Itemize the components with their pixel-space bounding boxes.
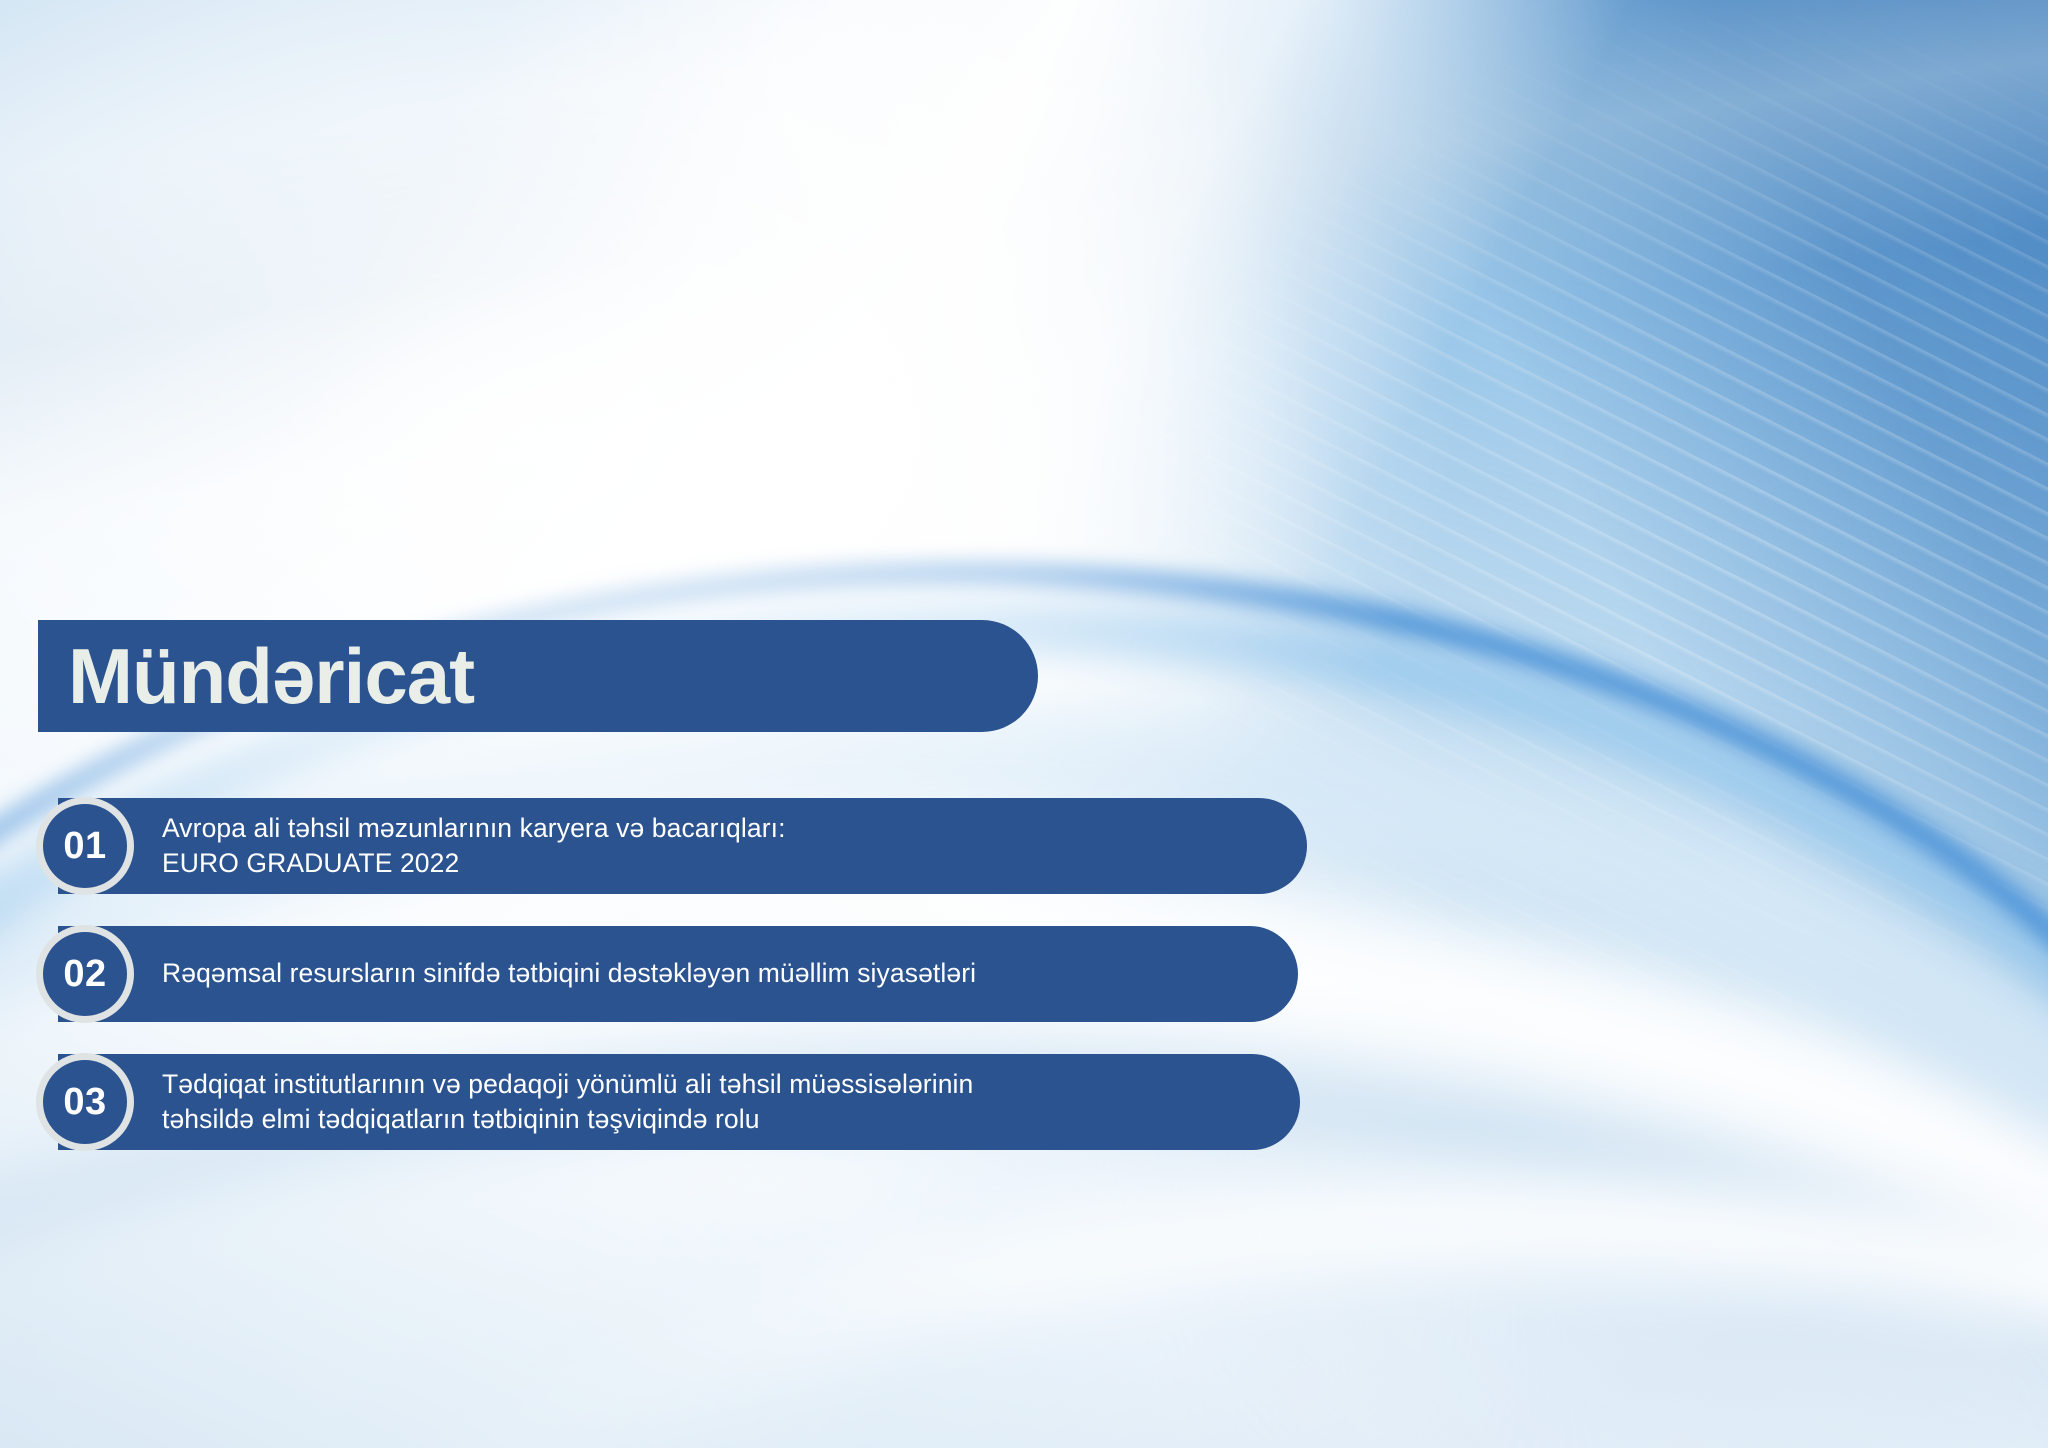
- toc-item-number-03: 03: [63, 1083, 106, 1121]
- toc-item-badge-03: 03: [36, 1053, 134, 1151]
- presentation-slide: Mündəricat Avropa ali təhsil məzunlarını…: [0, 0, 2048, 1448]
- toc-item-number-01: 01: [63, 827, 106, 865]
- toc-item-label-02: Rəqəmsal resursların sinifdə tətbiqini d…: [162, 956, 976, 991]
- toc-item-label-01: Avropa ali təhsil məzunlarının karyera v…: [162, 811, 786, 881]
- slide-content: Mündəricat Avropa ali təhsil məzunlarını…: [0, 0, 2048, 1448]
- slide-title-banner: Mündəricat: [38, 620, 1038, 732]
- toc-item-pill-02[interactable]: Rəqəmsal resursların sinifdə tətbiqini d…: [58, 926, 1298, 1022]
- list-item[interactable]: Tədqiqat institutlarının və pedaqoji yön…: [0, 1054, 2048, 1150]
- toc-item-label-03: Tədqiqat institutlarının və pedaqoji yön…: [162, 1067, 973, 1137]
- toc-item-pill-01[interactable]: Avropa ali təhsil məzunlarının karyera v…: [58, 798, 1307, 894]
- list-item[interactable]: Rəqəmsal resursların sinifdə tətbiqini d…: [0, 926, 2048, 1022]
- toc-item-badge-01: 01: [36, 797, 134, 895]
- toc-item-number-02: 02: [63, 955, 106, 993]
- toc-item-badge-02: 02: [36, 925, 134, 1023]
- toc-item-pill-03[interactable]: Tədqiqat institutlarının və pedaqoji yön…: [58, 1054, 1300, 1150]
- list-item[interactable]: Avropa ali təhsil məzunlarının karyera v…: [0, 798, 2048, 894]
- page-title: Mündəricat: [68, 637, 474, 715]
